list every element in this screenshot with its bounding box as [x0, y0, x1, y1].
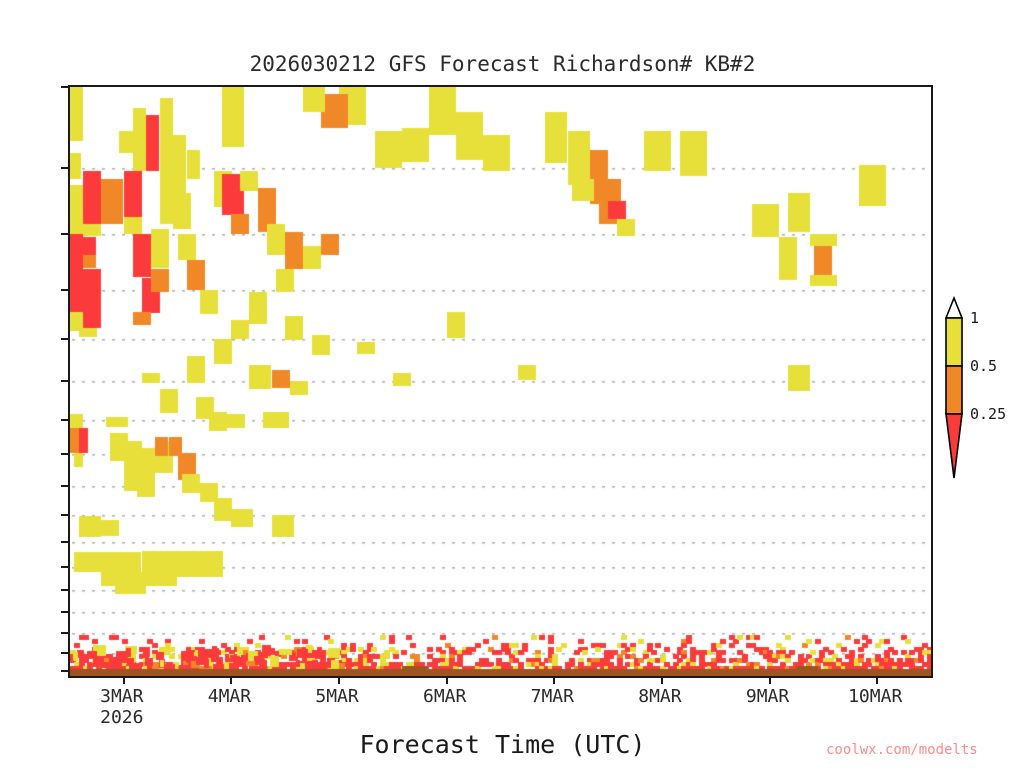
x-tick-label: 9MAR	[746, 686, 789, 707]
y-tick-mark	[61, 589, 70, 591]
y-tick-mark	[61, 670, 70, 672]
y-tick-mark	[61, 289, 70, 291]
y-tick-mark	[61, 566, 70, 568]
page-title: 2026030212 GFS Forecast Richardson# KB#2	[0, 52, 1005, 76]
colorbar-legend: 10.50.25	[936, 292, 1024, 488]
y-tick-mark	[61, 514, 70, 516]
x-tick-mark	[123, 676, 125, 684]
x-tick-label: 4MAR	[208, 686, 251, 707]
x-tick-label: 6MAR	[423, 686, 466, 707]
colorbar-tick-label: 0.5	[970, 357, 997, 375]
x-tick-label: 7MAR	[531, 686, 574, 707]
x-tick-label: 3MAR	[100, 686, 143, 707]
x-tick-sublabel: 2026	[100, 707, 143, 728]
watermark: coolwx.com/modelts	[826, 742, 978, 758]
x-tick-mark	[769, 676, 771, 684]
x-tick-mark	[338, 676, 340, 684]
y-tick-mark	[61, 233, 70, 235]
y-tick-mark	[61, 167, 70, 169]
x-tick-label: 8MAR	[638, 686, 681, 707]
heatmap-canvas	[70, 87, 931, 676]
x-tick-mark	[230, 676, 232, 684]
y-tick-mark	[61, 652, 70, 654]
y-tick-mark	[61, 453, 70, 455]
y-tick-mark	[61, 419, 70, 421]
x-tick-mark	[876, 676, 878, 684]
x-tick-mark	[553, 676, 555, 684]
colorbar-swatches	[936, 292, 1024, 488]
colorbar-tick-label: 0.25	[970, 405, 1006, 423]
y-tick-mark	[61, 485, 70, 487]
y-tick-mark	[61, 338, 70, 340]
y-tick-mark	[61, 611, 70, 613]
y-tick-mark	[61, 541, 70, 543]
x-tick-mark	[446, 676, 448, 684]
colorbar-tick-label: 1	[970, 309, 979, 327]
y-tick-mark	[61, 632, 70, 634]
chart-root: 2026030212 GFS Forecast Richardson# KB#2…	[0, 0, 1024, 768]
x-tick-mark	[661, 676, 663, 684]
x-tick-label: 5MAR	[315, 686, 358, 707]
y-tick-mark	[61, 380, 70, 382]
y-tick-mark	[61, 86, 70, 88]
x-tick-label: 10MAR	[848, 686, 902, 707]
plot-area	[68, 85, 933, 678]
